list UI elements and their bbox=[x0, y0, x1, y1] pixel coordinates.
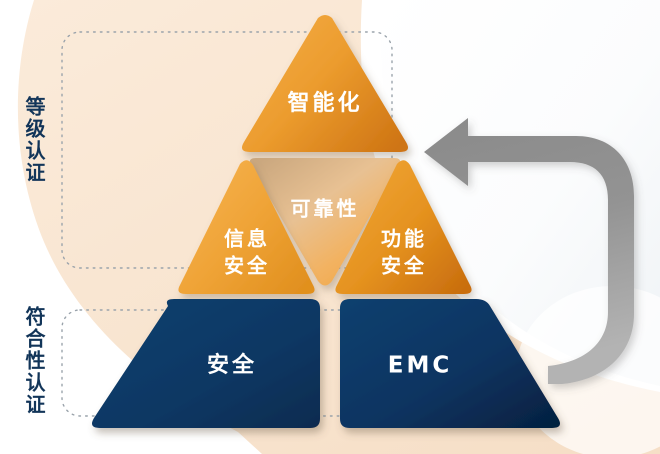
tile-intelligence-label: 智能化 bbox=[287, 90, 362, 116]
tile-reliability-label: 可靠性 bbox=[291, 197, 360, 221]
tile-information-security-label-1: 信息 bbox=[224, 227, 270, 251]
pyramid-graphic: 智能化 可靠性 信息 安全 功能 安全 安全 EMC bbox=[0, 0, 660, 454]
tile-functional-safety-label-1: 功能 bbox=[381, 227, 427, 251]
tile-safety-label: 安全 bbox=[207, 352, 257, 378]
tile-emc[interactable]: EMC bbox=[340, 299, 560, 428]
tile-intelligence[interactable]: 智能化 bbox=[242, 15, 408, 152]
side-label-level-certification: 等级认证 bbox=[24, 96, 44, 184]
tile-emc-label: EMC bbox=[388, 353, 452, 379]
side-label-compliance-certification: 符合性认证 bbox=[24, 306, 44, 416]
tile-information-security-label-2: 安全 bbox=[224, 254, 270, 278]
tile-intelligence-shape bbox=[242, 15, 408, 152]
tile-functional-safety-label-2: 安全 bbox=[381, 254, 427, 278]
tile-safety[interactable]: 安全 bbox=[92, 299, 320, 428]
diagram-canvas: 智能化 可靠性 信息 安全 功能 安全 安全 EMC 等级 bbox=[0, 0, 660, 454]
